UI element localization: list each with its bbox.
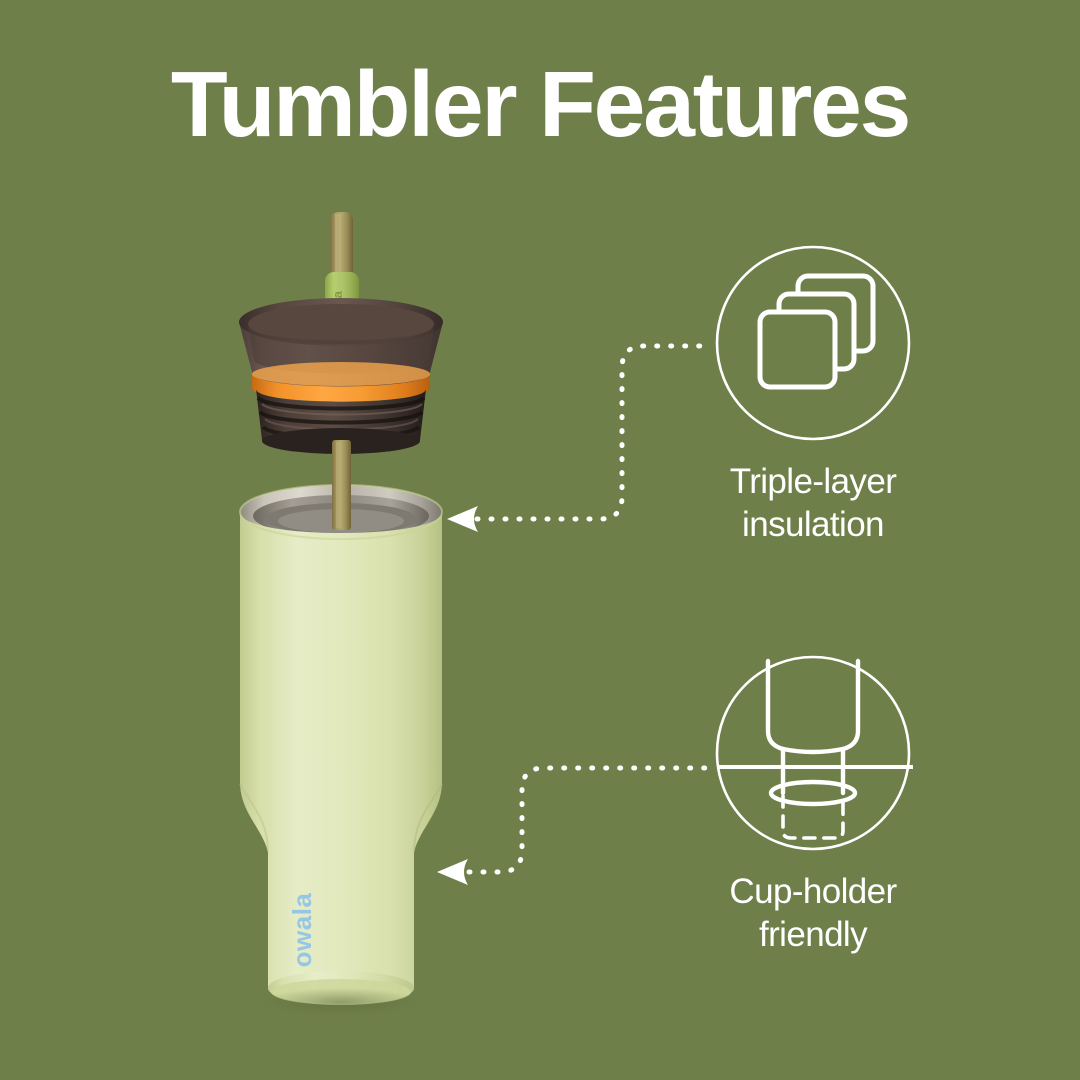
feature-label-line1: Triple-layer [730,462,897,501]
feature-label-line2: insulation [663,504,963,547]
tumbler-body [240,485,442,1016]
feature-cup-holder-friendly: Cup-holder friendly [663,653,963,956]
body-brand-logo: owala [287,893,317,968]
straw-inside-body [332,440,351,530]
feature-triple-layer-insulation: Triple-layer insulation [663,243,963,546]
feature-label-line1: Cup-holder [729,872,896,911]
stacked-layers-icon [713,243,913,443]
infographic-canvas: Tumbler Features [0,0,1080,1080]
feature-label: Cup-holder friendly [663,871,963,956]
gasket-ring [252,362,430,402]
feature-label: Triple-layer insulation [663,461,963,546]
feature-label-line2: friendly [663,914,963,957]
cup-in-holder-icon [713,653,913,853]
